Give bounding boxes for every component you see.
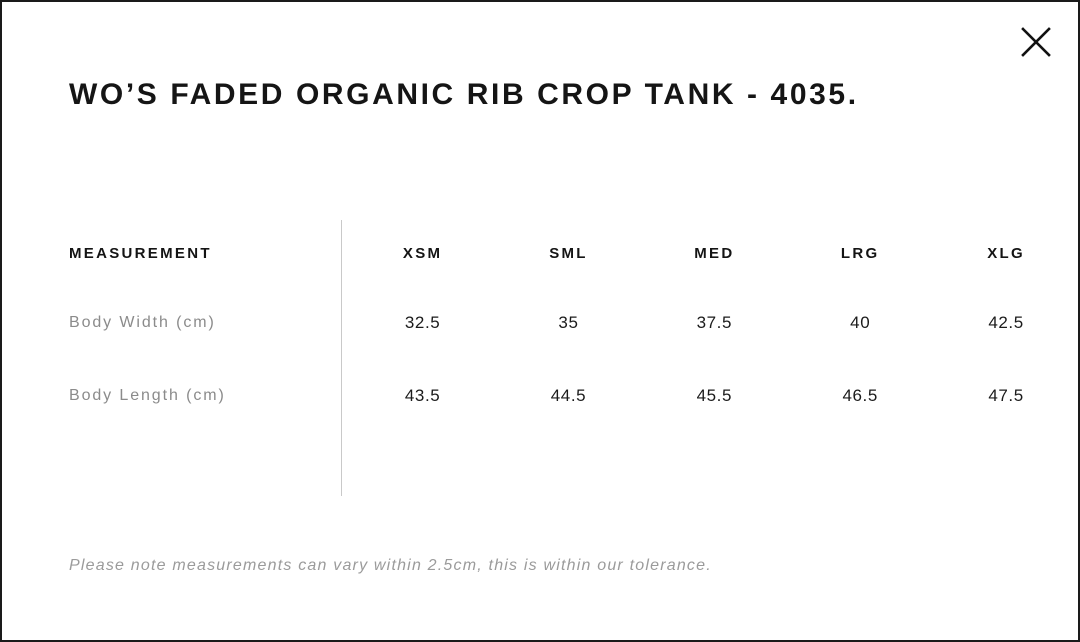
column-header-measurement: MEASUREMENT	[2, 220, 353, 286]
column-header-lrg: LRG	[790, 220, 936, 286]
row-label-body-width: Body Width (cm)	[2, 286, 353, 359]
cell-body-length-xlg: 47.5	[936, 359, 1080, 432]
table-row: Body Width (cm) 32.5 35 37.5 40 42.5	[2, 286, 1080, 359]
cell-body-width-xsm: 32.5	[353, 286, 499, 359]
column-header-xsm: XSM	[353, 220, 499, 286]
row-label-body-length: Body Length (cm)	[2, 359, 353, 432]
cell-body-width-sml: 35	[499, 286, 645, 359]
size-chart-table: MEASUREMENT XSM SML MED LRG XLG Body Wid…	[2, 220, 1080, 432]
column-header-xlg: XLG	[936, 220, 1080, 286]
cell-body-length-lrg: 46.5	[790, 359, 936, 432]
page-title: WO’S FADED ORGANIC RIB CROP TANK - 4035.	[69, 78, 859, 112]
size-guide-modal: WO’S FADED ORGANIC RIB CROP TANK - 4035.…	[0, 0, 1080, 642]
cell-body-length-med: 45.5	[644, 359, 790, 432]
table-header: MEASUREMENT XSM SML MED LRG XLG	[2, 220, 1080, 286]
close-button[interactable]	[1014, 20, 1058, 64]
column-header-sml: SML	[499, 220, 645, 286]
tolerance-note: Please note measurements can vary within…	[69, 557, 712, 575]
table-row: Body Length (cm) 43.5 44.5 45.5 46.5 47.…	[2, 359, 1080, 432]
cell-body-width-xlg: 42.5	[936, 286, 1080, 359]
table-body: Body Width (cm) 32.5 35 37.5 40 42.5 Bod…	[2, 286, 1080, 432]
size-chart-region: MEASUREMENT XSM SML MED LRG XLG Body Wid…	[2, 220, 1080, 496]
cell-body-width-med: 37.5	[644, 286, 790, 359]
table-header-row: MEASUREMENT XSM SML MED LRG XLG	[2, 220, 1080, 286]
cell-body-length-xsm: 43.5	[353, 359, 499, 432]
cell-body-width-lrg: 40	[790, 286, 936, 359]
column-header-med: MED	[644, 220, 790, 286]
cell-body-length-sml: 44.5	[499, 359, 645, 432]
close-x-icon	[1020, 26, 1052, 58]
